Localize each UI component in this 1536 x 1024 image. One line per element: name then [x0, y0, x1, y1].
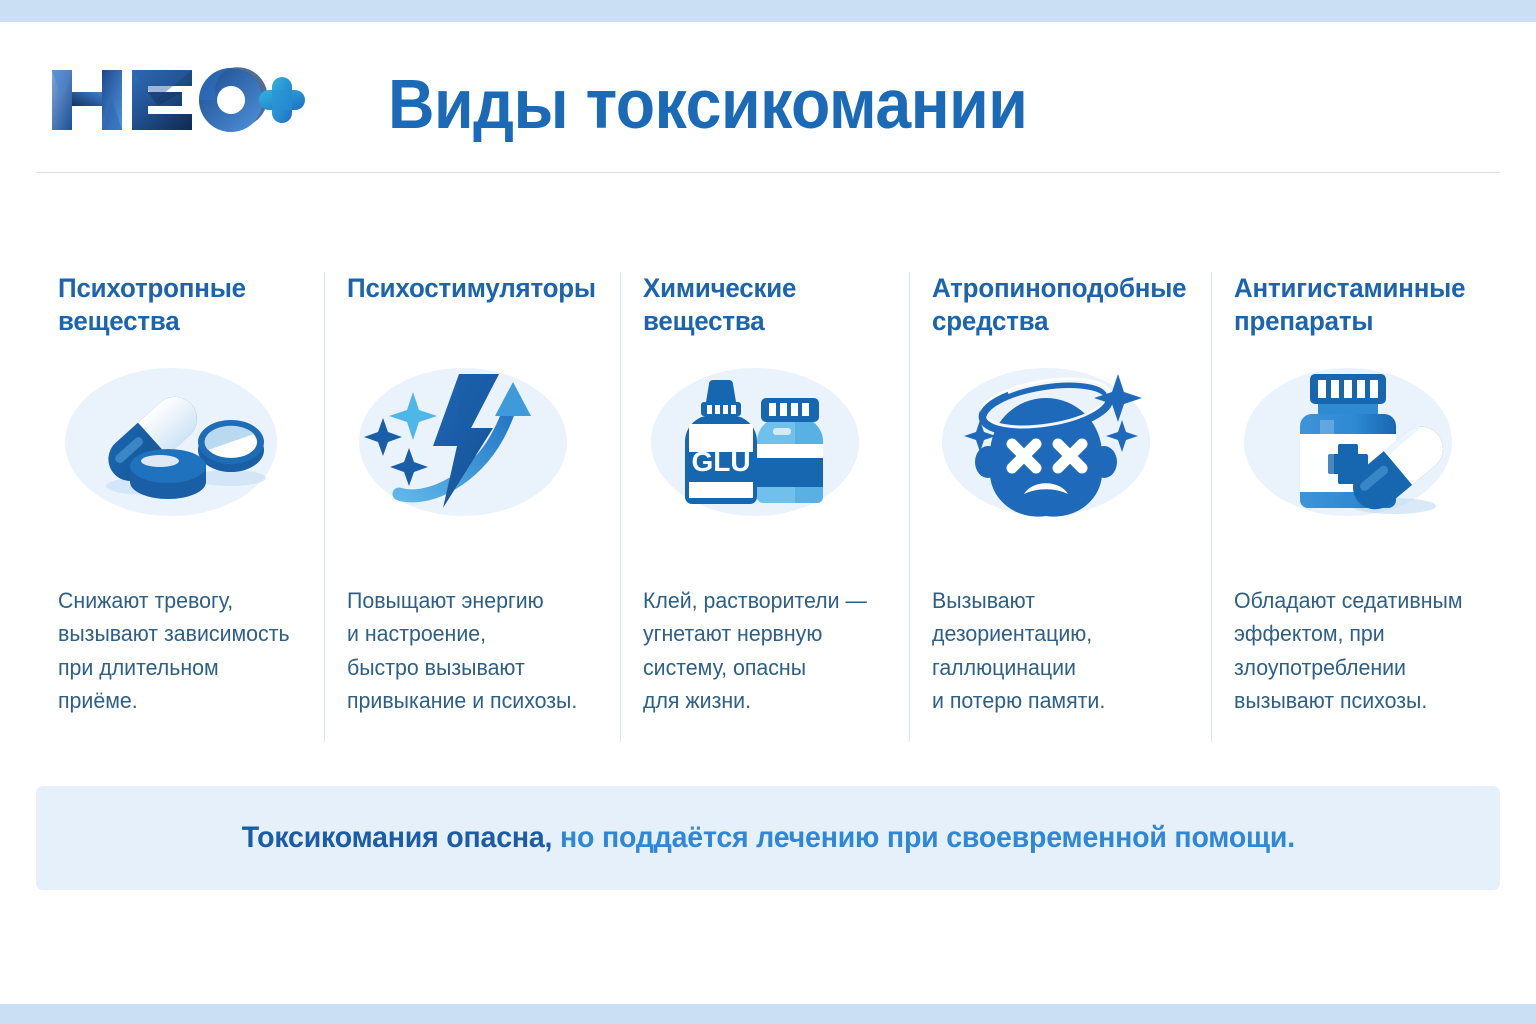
category-column-antihistamine[interactable]: Антигистаминные препараты: [1211, 272, 1500, 742]
page-title: Виды токсикомании: [388, 64, 1027, 144]
category-column-psychotropic[interactable]: Психотропные вещества: [36, 272, 324, 742]
column-body: Повыщают энергию и настроение, быстро вы…: [347, 584, 597, 718]
category-column-stimulants[interactable]: Психостимуляторы: [324, 272, 620, 742]
header: Виды токсикомании: [0, 22, 1536, 190]
category-column-atropine[interactable]: Атропиноподобные средства: [909, 272, 1211, 742]
glue-solvent-bottles-icon: GLU: [643, 358, 893, 526]
dizzy-face-icon: [932, 358, 1182, 526]
column-title: Химические вещества: [643, 272, 885, 344]
column-title: Антигистаминные препараты: [1234, 272, 1476, 344]
column-body: Обладают седативным эффектом, при злоупо…: [1234, 584, 1476, 718]
column-body: Снижают тревогу, вызывают зависимость пр…: [58, 584, 300, 718]
category-column-chemicals[interactable]: Химические вещества: [620, 272, 909, 742]
column-body: Клей, растворители — угнетают нервную си…: [643, 584, 885, 718]
footer-light-text: но поддаётся лечению при своевременной п…: [552, 821, 1295, 854]
category-columns: Психотропные вещества: [36, 272, 1500, 742]
pills-capsule-icon: [58, 358, 308, 526]
footer-strong-text: Токсикомания опасна,: [241, 821, 552, 854]
top-accent-band: [0, 0, 1536, 22]
bottom-accent-band: [0, 1004, 1536, 1024]
header-divider: [36, 172, 1500, 173]
column-title: Психотропные вещества: [58, 272, 300, 344]
lightning-bolt-arrow-icon: [347, 358, 597, 526]
footer-message: Токсикомания опасна, но поддаётся лечени…: [241, 821, 1294, 855]
glue-label: GLU: [692, 446, 751, 477]
footer-banner: Токсикомания опасна, но поддаётся лечени…: [36, 786, 1500, 890]
pill-bottle-capsule-icon: [1234, 358, 1484, 526]
neo-plus-logo: [46, 60, 306, 140]
column-body: Вызывают дезориентацию, галлюцинации и п…: [932, 584, 1187, 718]
column-title: Психостимуляторы: [347, 272, 596, 344]
infographic-page: Виды токсикомании Психотропные вещества: [0, 0, 1536, 1024]
column-title: Атропиноподобные средства: [932, 272, 1186, 344]
